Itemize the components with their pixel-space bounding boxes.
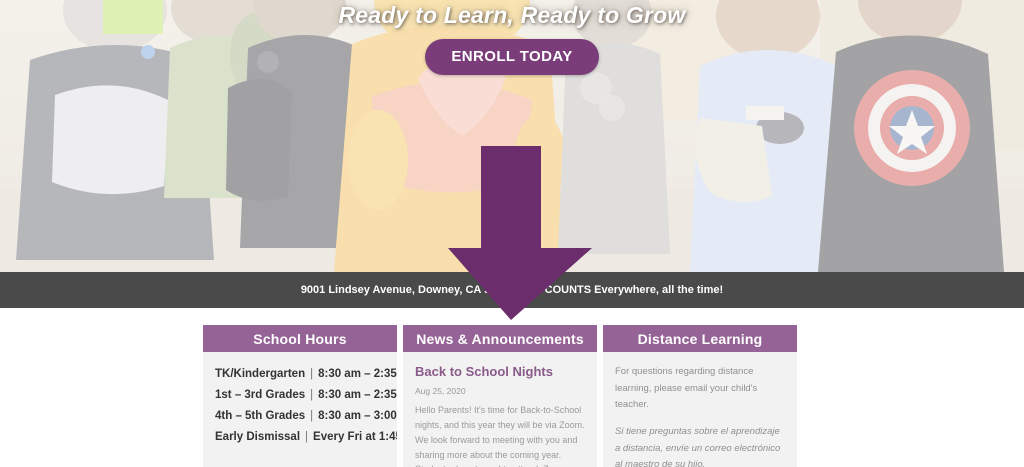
row-separator: | (305, 368, 318, 380)
school-hours-row: TK/Kindergarten|8:30 am – 2:35 pm (215, 364, 385, 385)
card-distance-learning: Distance Learning For questions regardin… (603, 325, 797, 467)
school-hours-row: 4th – 5th Grades|8:30 am – 3:00 pm (215, 406, 385, 427)
grade-time: Every Fri at 1:45 pm (313, 431, 397, 443)
hero-banner: Ready to Learn, Ready to Grow ENROLL TOD… (0, 0, 1024, 272)
card-news-announcements: News & Announcements Back to School Nigh… (403, 325, 597, 467)
enroll-today-button[interactable]: ENROLL TODAY (425, 39, 598, 75)
grade-label: TK/Kindergarten (215, 368, 305, 380)
address-separator: | (523, 284, 526, 296)
school-hours-row: Early Dismissal|Every Fri at 1:45 pm (215, 427, 385, 448)
grade-label: 4th – 5th Grades (215, 410, 305, 422)
card-news-body: Back to School Nights Aug 25, 2020 Hello… (403, 352, 597, 467)
card-distance-learning-title: Distance Learning (603, 325, 797, 352)
grade-time: 8:30 am – 2:35 pm (318, 389, 397, 401)
school-tagline: R COUNTS Everywhere, all the time! (534, 284, 724, 296)
school-hours-list: TK/Kindergarten|8:30 am – 2:35 pm 1st – … (215, 364, 385, 448)
news-post-date: Aug 25, 2020 (415, 386, 585, 396)
page-root: Ready to Learn, Ready to Grow ENROLL TOD… (0, 0, 1024, 467)
grade-label: Early Dismissal (215, 431, 300, 443)
card-news-title: News & Announcements (403, 325, 597, 352)
card-school-hours-body: TK/Kindergarten|8:30 am – 2:35 pm 1st – … (203, 352, 397, 467)
grade-label: 1st – 3rd Grades (215, 389, 305, 401)
card-school-hours-title: School Hours (203, 325, 397, 352)
row-separator: | (305, 410, 318, 422)
row-separator: | (300, 431, 313, 443)
grade-time: 8:30 am – 3:00 pm (318, 410, 397, 422)
hero-title: Ready to Learn, Ready to Grow (0, 2, 1024, 29)
card-distance-learning-body: For questions regarding distance learnin… (603, 352, 797, 467)
news-post-body: Hello Parents! It's time for Back-to-Sch… (415, 403, 585, 467)
school-hours-row: 1st – 3rd Grades|8:30 am – 2:35 pm (215, 385, 385, 406)
address-bar: 9001 Lindsey Avenue, Downey, CA 90240 | … (0, 272, 1024, 308)
card-school-hours: School Hours TK/Kindergarten|8:30 am – 2… (203, 325, 397, 467)
news-post-title-link[interactable]: Back to School Nights (415, 364, 585, 379)
school-address: 9001 Lindsey Avenue, Downey, CA 90240 (301, 284, 515, 296)
row-separator: | (305, 389, 318, 401)
info-cards-row: School Hours TK/Kindergarten|8:30 am – 2… (203, 325, 797, 467)
distance-learning-text-spanish: Si tiene preguntas sobre el aprendizaje … (615, 424, 785, 467)
hero-content: Ready to Learn, Ready to Grow ENROLL TOD… (0, 0, 1024, 75)
grade-time: 8:30 am – 2:35 pm (318, 368, 397, 380)
distance-learning-text-english: For questions regarding distance learnin… (615, 364, 785, 414)
